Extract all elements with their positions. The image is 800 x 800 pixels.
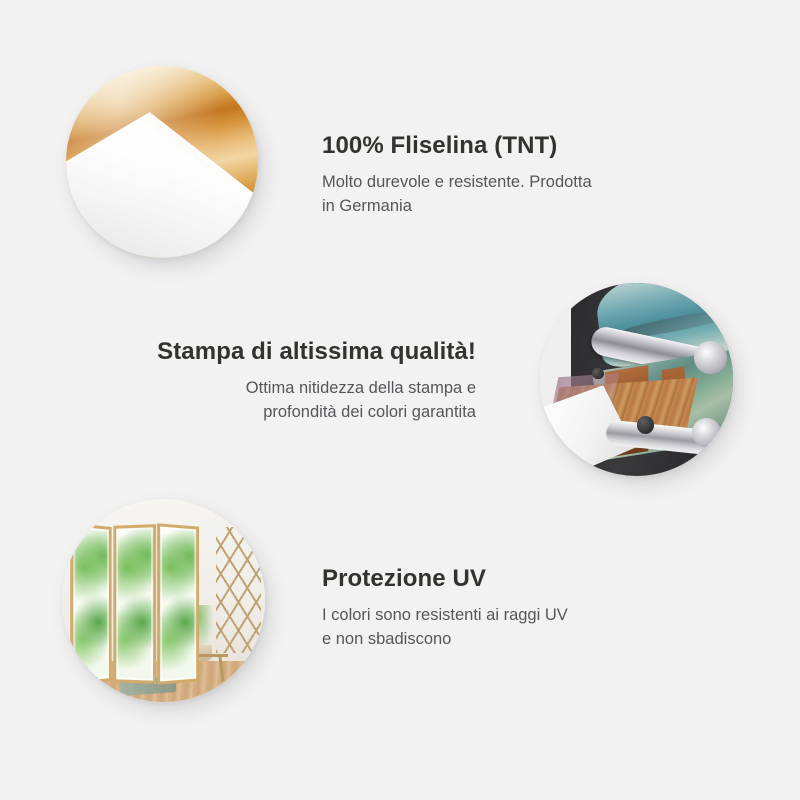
printer-roller-cap-upper [694, 341, 727, 374]
feature-body-fliselina: Molto durevole e resistente. Prodotta in… [322, 170, 682, 218]
feature-heading-stampa: Stampa di altissima qualità! [136, 338, 476, 366]
feature-text-fliselina: 100% Fliselina (TNT) Molto durevole e re… [322, 132, 682, 218]
interior-trellis-decor [216, 527, 261, 653]
feature-body-stampa: Ottima nitidezza della stampa e profondi… [136, 376, 476, 424]
tropical-folding-screen [70, 525, 200, 683]
feature-image-peeled-wallpaper-corner [66, 66, 258, 258]
feature-body-protezione-uv: I colori sono resistenti ai raggi UV e n… [322, 603, 682, 651]
feature-body-protezione-uv-line1: I colori sono resistenti ai raggi UV [322, 606, 568, 624]
feature-body-fliselina-line2: in Germania [322, 197, 412, 215]
feature-image-large-format-printer [540, 283, 733, 476]
product-features-infographic: 100% Fliselina (TNT) Molto durevole e re… [0, 0, 800, 800]
feature-text-protezione-uv: Protezione UV I colori sono resistenti a… [322, 565, 682, 651]
interior-illustration [62, 499, 265, 702]
feature-body-stampa-line2: profondità dei colori garantita [263, 403, 476, 421]
screen-panel-center [114, 525, 157, 685]
wallpaper-highlight [66, 66, 258, 258]
feature-body-protezione-uv-line2: e non sbadiscono [322, 630, 451, 648]
feature-text-stampa: Stampa di altissima qualità! Ottima niti… [136, 338, 476, 424]
printer-knob-front [637, 416, 654, 433]
feature-body-stampa-line1: Ottima nitidezza della stampa e [246, 379, 476, 397]
feature-heading-fliselina: 100% Fliselina (TNT) [322, 132, 682, 160]
printer-illustration [540, 283, 733, 476]
feature-heading-protezione-uv: Protezione UV [322, 565, 682, 593]
feature-body-fliselina-line1: Molto durevole e resistente. Prodotta [322, 173, 592, 191]
screen-panel-left [70, 523, 112, 686]
printer-knob-rear [592, 368, 604, 380]
feature-image-tropical-room-divider [62, 499, 265, 702]
screen-panel-right [157, 524, 199, 686]
wallpaper-illustration [66, 66, 258, 258]
